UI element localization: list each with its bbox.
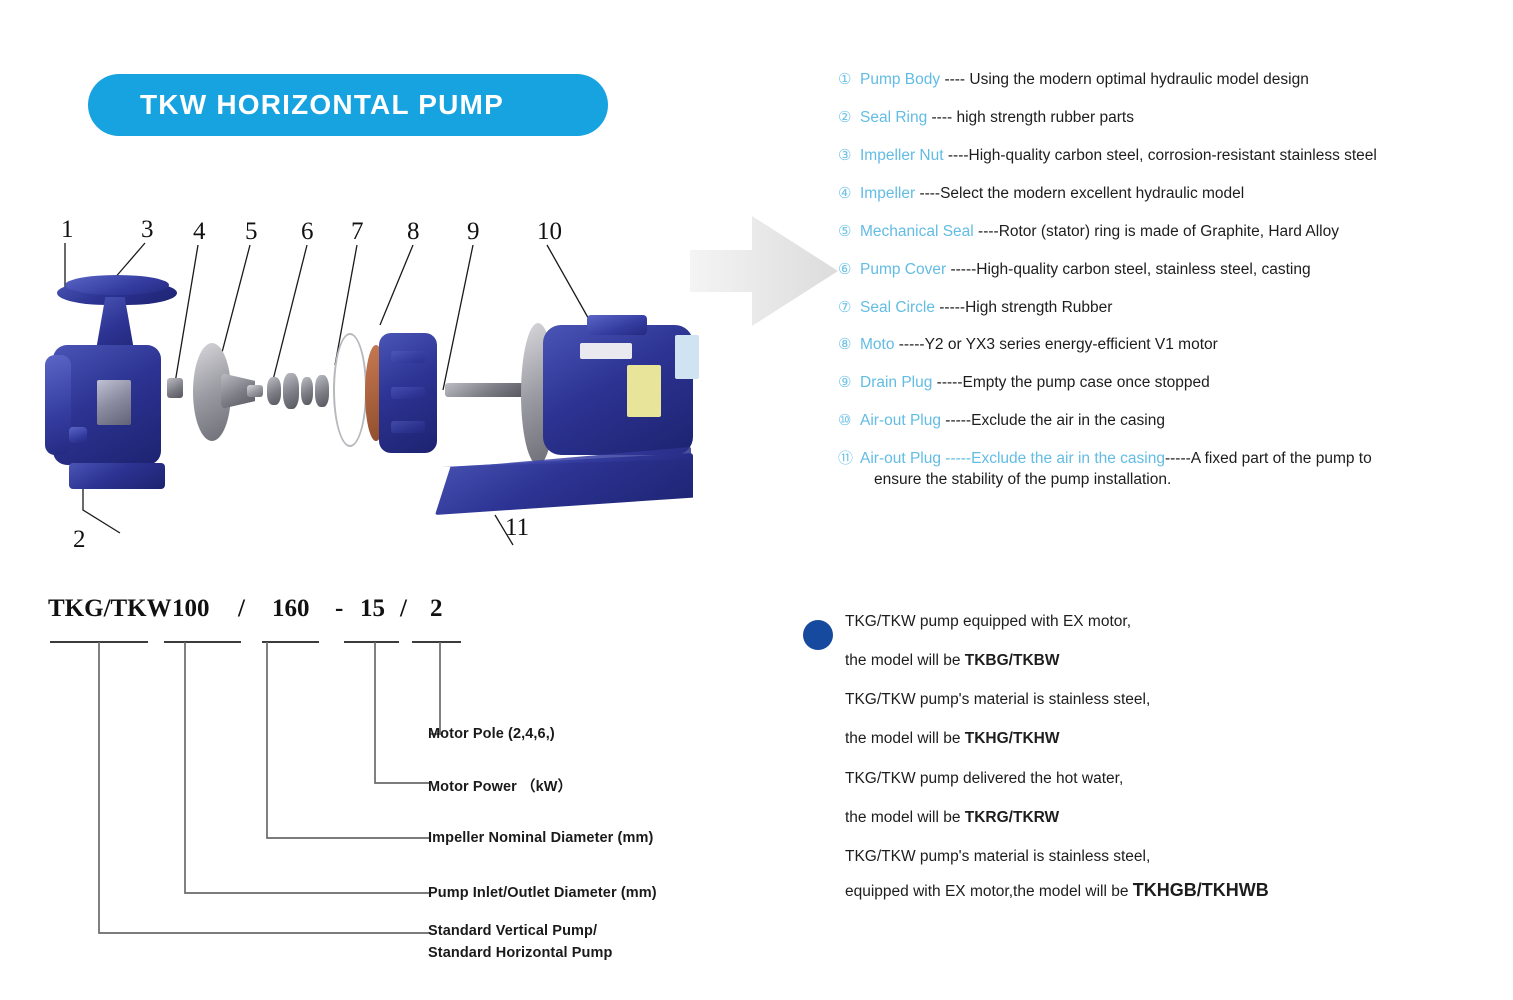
legend-item-4: ④ Impeller ----Select the modern excelle… xyxy=(838,184,1498,205)
legend-desc-10: Exclude the air in the casing xyxy=(971,412,1165,429)
page-title: TKW HORIZONTAL PUMP xyxy=(140,89,504,121)
legend-item-11: ⑪ Air-out Plug -----Exclude the air in t… xyxy=(838,449,1498,491)
legend-text-8: Moto -----Y2 or YX3 series energy-effici… xyxy=(860,335,1498,356)
legend-text-6: Pump Cover -----High-quality carbon stee… xyxy=(860,260,1498,281)
mechanical-seal-ring-2 xyxy=(283,373,299,409)
mechanical-seal-ring-4 xyxy=(315,375,329,407)
nomen-label-motor-pole: Motor Pole (2,4,6,) xyxy=(428,726,555,742)
code-token-power: 15 xyxy=(360,595,385,623)
note-line-8: equipped with EX motor,the model will be… xyxy=(845,879,1440,902)
callout-5: 5 xyxy=(245,219,258,244)
callout-4: 4 xyxy=(193,219,206,244)
note-line-1: TKG/TKW pump equipped with EX motor, xyxy=(845,612,1440,632)
legend-text-5: Mechanical Seal ----Rotor (stator) ring … xyxy=(860,222,1498,243)
note-line-2: the model will be TKBG/TKBW xyxy=(845,651,1440,671)
model-variant-notes: TKG/TKW pump equipped with EX motor, the… xyxy=(800,612,1440,921)
legend-dash-2: ---- xyxy=(927,109,956,126)
callout-11: 11 xyxy=(505,515,529,540)
mechanical-seal-spring xyxy=(247,385,263,397)
legend-num-4: ④ xyxy=(838,184,860,204)
legend-desc-9: Empty the pump case once stopped xyxy=(963,374,1210,391)
legend-num-5: ⑤ xyxy=(838,222,860,242)
legend-num-2: ② xyxy=(838,108,860,128)
legend-dash-9: ----- xyxy=(932,374,962,391)
legend-num-11: ⑪ xyxy=(838,449,860,469)
parts-legend: ① Pump Body ---- Using the modern optima… xyxy=(838,70,1498,508)
pump-base-foot xyxy=(69,463,165,489)
pump-drain-plug xyxy=(69,427,87,443)
nomen-label-inlet-outlet-diameter: Pump Inlet/Outlet Diameter (mm) xyxy=(428,885,657,901)
code-token-series: TKG/TKW xyxy=(48,595,172,623)
nomen-label-motor-power: Motor Power （kW） xyxy=(428,775,572,796)
note-bold-2: TKBG/TKBW xyxy=(965,652,1060,669)
callout-2: 2 xyxy=(73,527,86,552)
legend-label-9: Drain Plug xyxy=(860,374,932,391)
model-nomenclature: TKG/TKW 100 / 160 - 15 / 2 xyxy=(35,595,735,965)
note-text-6: the model will be xyxy=(845,809,965,826)
note-text-3: TKG/TKW pump's material is stainless ste… xyxy=(845,691,1150,708)
legend-desc-8: Y2 or YX3 series energy-efficient V1 mot… xyxy=(925,336,1218,353)
page-root: TKW HORIZONTAL PUMP 1 3 4 5 6 7 xyxy=(0,0,1513,1000)
legend-text-2: Seal Ring ---- high strength rubber part… xyxy=(860,108,1498,129)
callout-10: 10 xyxy=(537,219,562,244)
legend-text-11: Air-out Plug -----Exclude the air in the… xyxy=(860,449,1498,491)
code-token-dash: - xyxy=(335,595,343,623)
legend-label-11: Air-out Plug xyxy=(860,450,941,467)
mechanical-seal-ring-3 xyxy=(301,377,313,405)
legend-desc-7: High strength Rubber xyxy=(965,299,1112,316)
notes-lines: TKG/TKW pump equipped with EX motor, the… xyxy=(845,612,1440,902)
code-token-slash-2: / xyxy=(400,595,407,623)
pump-cover-rib-2 xyxy=(391,387,425,399)
legend-num-10: ⑩ xyxy=(838,411,860,431)
legend-desc-2: high strength rubber parts xyxy=(956,109,1134,126)
note-bold-8: TKHGB/TKHWB xyxy=(1133,880,1269,900)
legend-text-1: Pump Body ---- Using the modern optimal … xyxy=(860,70,1498,91)
legend-dash-1: ---- xyxy=(940,71,969,88)
legend-num-9: ⑨ xyxy=(838,373,860,393)
legend-dash-8: ----- xyxy=(894,336,924,353)
pump-nameplate xyxy=(97,380,131,425)
legend-text-10: Air-out Plug -----Exclude the air in the… xyxy=(860,411,1498,432)
legend-label-10: Air-out Plug xyxy=(860,412,941,429)
mechanical-seal-ring-1 xyxy=(267,377,281,405)
legend-text-9: Drain Plug -----Empty the pump case once… xyxy=(860,373,1498,394)
legend-dash-4: ---- xyxy=(915,185,940,202)
legend-dash-7: ----- xyxy=(935,299,965,316)
note-bold-4: TKHG/TKHW xyxy=(965,730,1060,747)
motor-label-white xyxy=(580,343,632,359)
legend-desc-1: Using the modern optimal hydraulic model… xyxy=(969,71,1308,88)
code-token-impeller: 160 xyxy=(272,595,310,623)
legend-num-1: ① xyxy=(838,70,860,90)
title-banner: TKW HORIZONTAL PUMP xyxy=(88,74,608,136)
legend-label-3: Impeller Nut xyxy=(860,147,944,164)
note-line-5: TKG/TKW pump delivered the hot water, xyxy=(845,769,1440,789)
legend-text-3: Impeller Nut ----High-quality carbon ste… xyxy=(860,146,1498,167)
legend-item-6: ⑥ Pump Cover -----High-quality carbon st… xyxy=(838,260,1498,281)
legend-label-7: Seal Circle xyxy=(860,299,935,316)
legend-dash-11: ----- xyxy=(941,450,971,467)
note-bold-6: TKRG/TKRW xyxy=(965,809,1059,826)
callout-3: 3 xyxy=(141,217,154,242)
legend-text-7: Seal Circle -----High strength Rubber xyxy=(860,298,1498,319)
right-arrow-icon xyxy=(690,212,840,330)
legend-label-1: Pump Body xyxy=(860,71,940,88)
legend-item-5: ⑤ Mechanical Seal ----Rotor (stator) rin… xyxy=(838,222,1498,243)
note-line-6: the model will be TKRG/TKRW xyxy=(845,808,1440,828)
callout-9: 9 xyxy=(467,219,480,244)
legend-desc-4: Select the modern excellent hydraulic mo… xyxy=(940,185,1244,202)
legend-num-6: ⑥ xyxy=(838,260,860,280)
pump-cover-rib-3 xyxy=(391,421,425,433)
legend-item-10: ⑩ Air-out Plug -----Exclude the air in t… xyxy=(838,411,1498,432)
nomen-label-impeller-diameter: Impeller Nominal Diameter (mm) xyxy=(428,830,653,846)
impeller-nut xyxy=(167,378,183,398)
pump-cover-rib-1 xyxy=(391,351,425,363)
pump-body-flange-face xyxy=(65,275,169,295)
flow-arrow xyxy=(690,212,840,330)
legend-dash-10: ----- xyxy=(941,412,971,429)
note-text-8: equipped with EX motor,the model will be xyxy=(845,883,1133,900)
legend-num-3: ③ xyxy=(838,146,860,166)
legend-dash-6: ----- xyxy=(946,261,976,278)
nomen-label-standard-horizontal-pump: Standard Horizontal Pump xyxy=(428,945,612,961)
legend-desc2-11: ensure the stability of the pump install… xyxy=(860,470,1498,491)
motor-nameplate-yellow xyxy=(627,365,661,417)
legend-item-9: ⑨ Drain Plug -----Empty the pump case on… xyxy=(838,373,1498,394)
legend-num-7: ⑦ xyxy=(838,298,860,318)
legend-blue-extra-11: Exclude the air in the casing xyxy=(971,450,1165,467)
legend-desc-3: High-quality carbon steel, corrosion-res… xyxy=(969,147,1377,164)
note-text-2: the model will be xyxy=(845,652,965,669)
note-line-7: TKG/TKW pump's material is stainless ste… xyxy=(845,847,1440,867)
legend-label-4: Impeller xyxy=(860,185,915,202)
model-code-row: TKG/TKW 100 / 160 - 15 / 2 xyxy=(35,595,465,637)
legend-dash-5: ---- xyxy=(974,223,999,240)
code-token-slash-1: / xyxy=(238,595,245,623)
callout-7: 7 xyxy=(351,219,364,244)
note-text-5: TKG/TKW pump delivered the hot water, xyxy=(845,770,1123,787)
exploded-pump-diagram: 1 3 4 5 6 7 8 9 10 2 11 xyxy=(35,215,715,560)
legend-text-4: Impeller ----Select the modern excellent… xyxy=(860,184,1498,205)
motor-shaft xyxy=(445,383,525,397)
legend-label-6: Pump Cover xyxy=(860,261,946,278)
note-text-7: TKG/TKW pump's material is stainless ste… xyxy=(845,848,1150,865)
legend-label-2: Seal Ring xyxy=(860,109,927,126)
note-line-4: the model will be TKHG/TKHW xyxy=(845,729,1440,749)
legend-desc-5: Rotor (stator) ring is made of Graphite,… xyxy=(999,223,1339,240)
callout-8: 8 xyxy=(407,219,420,244)
callout-1: 1 xyxy=(61,217,74,242)
legend-item-3: ③ Impeller Nut ----High-quality carbon s… xyxy=(838,146,1498,167)
note-text-4: the model will be xyxy=(845,730,965,747)
motor-label-right xyxy=(675,335,699,379)
legend-dash-3: ---- xyxy=(944,147,969,164)
note-line-3: TKG/TKW pump's material is stainless ste… xyxy=(845,690,1440,710)
seal-circle-oring xyxy=(333,333,367,447)
legend-item-7: ⑦ Seal Circle -----High strength Rubber xyxy=(838,298,1498,319)
legend-item-1: ① Pump Body ---- Using the modern optima… xyxy=(838,70,1498,91)
nomen-label-standard-vertical-pump: Standard Vertical Pump/ xyxy=(428,923,597,939)
note-text-1: TKG/TKW pump equipped with EX motor, xyxy=(845,613,1131,630)
pump-body-suction-flange xyxy=(45,355,71,455)
code-token-pole: 2 xyxy=(430,595,443,623)
legend-label-5: Mechanical Seal xyxy=(860,223,974,240)
motor-terminal-box xyxy=(587,315,647,335)
legend-item-2: ② Seal Ring ---- high strength rubber pa… xyxy=(838,108,1498,129)
bullet-dot-icon xyxy=(803,620,833,650)
legend-item-8: ⑧ Moto -----Y2 or YX3 series energy-effi… xyxy=(838,335,1498,356)
legend-desc-6: High-quality carbon steel, stainless ste… xyxy=(976,261,1310,278)
code-token-inlet: 100 xyxy=(172,595,210,623)
nomenclature-leader-lines xyxy=(35,633,735,973)
legend-desc-11: -----A fixed part of the pump to xyxy=(1165,450,1372,467)
legend-label-8: Moto xyxy=(860,336,894,353)
callout-6: 6 xyxy=(301,219,314,244)
legend-num-8: ⑧ xyxy=(838,335,860,355)
